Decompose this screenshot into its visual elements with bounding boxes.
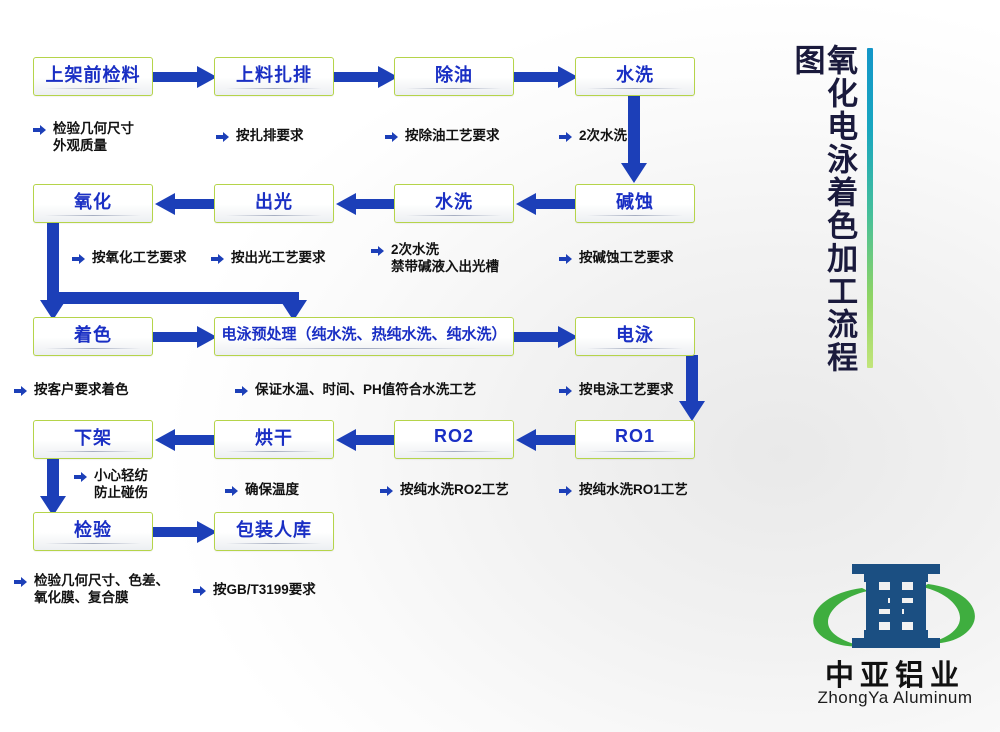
connector-n3-n4	[514, 66, 580, 88]
connector-n16-n17	[153, 521, 219, 543]
connector-n13-n14	[334, 429, 400, 451]
node-label: 出光	[255, 188, 293, 214]
note-item: 按氧化工艺要求	[72, 249, 187, 266]
node-underline	[45, 88, 142, 89]
node-underline	[587, 451, 684, 452]
note-item: 小心轻纺 防止碰伤	[74, 467, 148, 501]
note-text: 保证水温、时间、PH值符合水洗工艺	[255, 381, 476, 398]
node-underline	[226, 88, 323, 89]
process-node-chuguang[interactable]: 出光	[214, 184, 334, 223]
node-label: 上架前检料	[46, 61, 141, 87]
process-node-shuixi-2[interactable]: 水洗	[394, 184, 514, 223]
node-label: 水洗	[616, 61, 654, 87]
note-item: 确保温度	[225, 481, 299, 498]
note-text: 确保温度	[245, 481, 299, 498]
right-arrow-bullet-icon	[559, 130, 573, 144]
right-arrow-bullet-icon	[216, 130, 230, 144]
node-label: 除油	[435, 61, 473, 87]
connector-n11-n12	[678, 355, 706, 423]
logo-english-name: ZhongYa Aluminum	[800, 688, 990, 708]
note-text: 按扎排要求	[236, 127, 304, 144]
node-label: 检验	[74, 516, 112, 542]
right-arrow-bullet-icon	[14, 384, 28, 398]
process-node-dianyongyuchuli[interactable]: 电泳预处理（纯水洗、热纯水洗、纯水洗）	[214, 317, 514, 356]
note-item: 按扎排要求	[216, 127, 304, 144]
process-node-jianshi[interactable]: 碱蚀	[575, 184, 695, 223]
process-node-jianyan[interactable]: 检验	[33, 512, 153, 551]
right-arrow-bullet-icon	[72, 252, 86, 266]
note-text: 按纯水洗RO2工艺	[400, 481, 509, 498]
note-text: 检验几何尺寸 外观质量	[53, 120, 134, 154]
right-arrow-bullet-icon	[380, 484, 394, 498]
process-node-chuyou[interactable]: 除油	[394, 57, 514, 96]
note-item: 按出光工艺要求	[211, 249, 326, 266]
node-underline	[226, 543, 323, 544]
node-label: 下架	[74, 424, 112, 450]
right-arrow-bullet-icon	[33, 123, 47, 137]
note-item: 按客户要求着色	[14, 381, 129, 398]
node-underline	[226, 215, 323, 216]
note-text: 按碱蚀工艺要求	[579, 249, 674, 266]
node-underline	[587, 215, 684, 216]
note-text: 按客户要求着色	[34, 381, 129, 398]
page-title: 氧化电泳着色加工流程图	[790, 44, 855, 374]
connector-n7-n8	[153, 193, 219, 215]
right-arrow-bullet-icon	[235, 384, 249, 398]
node-underline	[226, 451, 323, 452]
note-item: 2次水洗	[559, 127, 627, 144]
process-node-yanghua[interactable]: 氧化	[33, 184, 153, 223]
note-item: 按电泳工艺要求	[559, 381, 674, 398]
note-item: 按除油工艺要求	[385, 127, 500, 144]
node-underline	[587, 348, 684, 349]
process-node-xiajia[interactable]: 下架	[33, 420, 153, 459]
node-label: RO1	[615, 426, 655, 447]
process-node-ro1[interactable]: RO1	[575, 420, 695, 459]
right-arrow-bullet-icon	[225, 484, 239, 498]
node-underline	[45, 348, 142, 349]
node-label: 上料扎排	[236, 61, 312, 87]
process-node-shuixi-1[interactable]: 水洗	[575, 57, 695, 96]
note-text: 2次水洗 禁带碱液入出光槽	[391, 241, 499, 275]
note-text: 按氧化工艺要求	[92, 249, 187, 266]
node-label: RO2	[434, 426, 474, 447]
connector-n8-n10	[55, 222, 320, 322]
note-text: 按纯水洗RO1工艺	[579, 481, 688, 498]
node-label: 碱蚀	[616, 188, 654, 214]
node-underline	[406, 215, 503, 216]
node-underline	[45, 215, 142, 216]
note-item: 按纯水洗RO1工艺	[559, 481, 688, 498]
connector-n6-n7	[334, 193, 400, 215]
node-label: 电泳	[616, 321, 654, 347]
note-item: 检验几何尺寸、色差、 氧化膜、复合膜	[14, 572, 169, 606]
process-node-zhuose[interactable]: 着色	[33, 317, 153, 356]
node-underline	[45, 451, 142, 452]
flowchart-canvas: 上架前检料 上料扎排 除油 水洗 碱蚀 水洗 出光 氧化 着色 电泳预处理（纯水…	[0, 0, 1000, 732]
right-arrow-bullet-icon	[385, 130, 399, 144]
note-text: 检验几何尺寸、色差、 氧化膜、复合膜	[34, 572, 169, 606]
node-label: 电泳预处理（纯水洗、热纯水洗、纯水洗）	[221, 323, 506, 344]
right-arrow-bullet-icon	[559, 384, 573, 398]
note-text: 按除油工艺要求	[405, 127, 500, 144]
note-item: 2次水洗 禁带碱液入出光槽	[371, 241, 499, 275]
right-arrow-bullet-icon	[193, 584, 207, 598]
note-item: 按碱蚀工艺要求	[559, 249, 674, 266]
note-text: 按出光工艺要求	[231, 249, 326, 266]
note-item: 检验几何尺寸 外观质量	[33, 120, 134, 154]
chart-title-block: 氧化电泳着色加工流程图	[790, 44, 880, 374]
node-underline	[406, 88, 503, 89]
process-node-dianyong[interactable]: 电泳	[575, 317, 695, 356]
company-logo: 中亚铝业 ZhongYa Aluminum	[800, 560, 990, 720]
right-arrow-bullet-icon	[211, 252, 225, 266]
node-label: 烘干	[255, 424, 293, 450]
note-text: 小心轻纺 防止碰伤	[94, 467, 148, 501]
connector-n10-n11	[514, 326, 580, 348]
connector-n14-n15	[153, 429, 219, 451]
node-label: 包装人库	[236, 516, 312, 542]
connector-n1-n2	[153, 66, 219, 88]
connector-n12-n13	[514, 429, 580, 451]
process-node-shangjiaqianjianliao[interactable]: 上架前检料	[33, 57, 153, 96]
process-node-ro2[interactable]: RO2	[394, 420, 514, 459]
connector-n15-n16	[39, 458, 67, 518]
note-text: 按电泳工艺要求	[579, 381, 674, 398]
node-underline	[45, 543, 142, 544]
connector-n5-n6	[514, 193, 580, 215]
process-node-hongan[interactable]: 烘干	[214, 420, 334, 459]
note-item: 按纯水洗RO2工艺	[380, 481, 509, 498]
connector-n2-n3	[334, 66, 400, 88]
note-text: 按GB/T3199要求	[213, 581, 316, 598]
node-label: 着色	[74, 321, 112, 347]
right-arrow-bullet-icon	[74, 470, 88, 484]
note-text: 2次水洗	[579, 127, 627, 144]
node-label: 氧化	[74, 188, 112, 214]
node-underline	[242, 348, 486, 349]
node-underline	[587, 88, 684, 89]
node-underline	[406, 451, 503, 452]
logo-emblem-icon	[800, 560, 990, 655]
connector-n9-n10	[153, 326, 219, 348]
right-arrow-bullet-icon	[14, 575, 28, 589]
right-arrow-bullet-icon	[559, 484, 573, 498]
process-node-shangliaozhapai[interactable]: 上料扎排	[214, 57, 334, 96]
title-gradient-bar	[867, 48, 873, 368]
note-item: 按GB/T3199要求	[193, 581, 316, 598]
process-node-baozhuangruku[interactable]: 包装人库	[214, 512, 334, 551]
right-arrow-bullet-icon	[371, 244, 385, 258]
right-arrow-bullet-icon	[559, 252, 573, 266]
node-label: 水洗	[435, 188, 473, 214]
note-item: 保证水温、时间、PH值符合水洗工艺	[235, 381, 476, 398]
